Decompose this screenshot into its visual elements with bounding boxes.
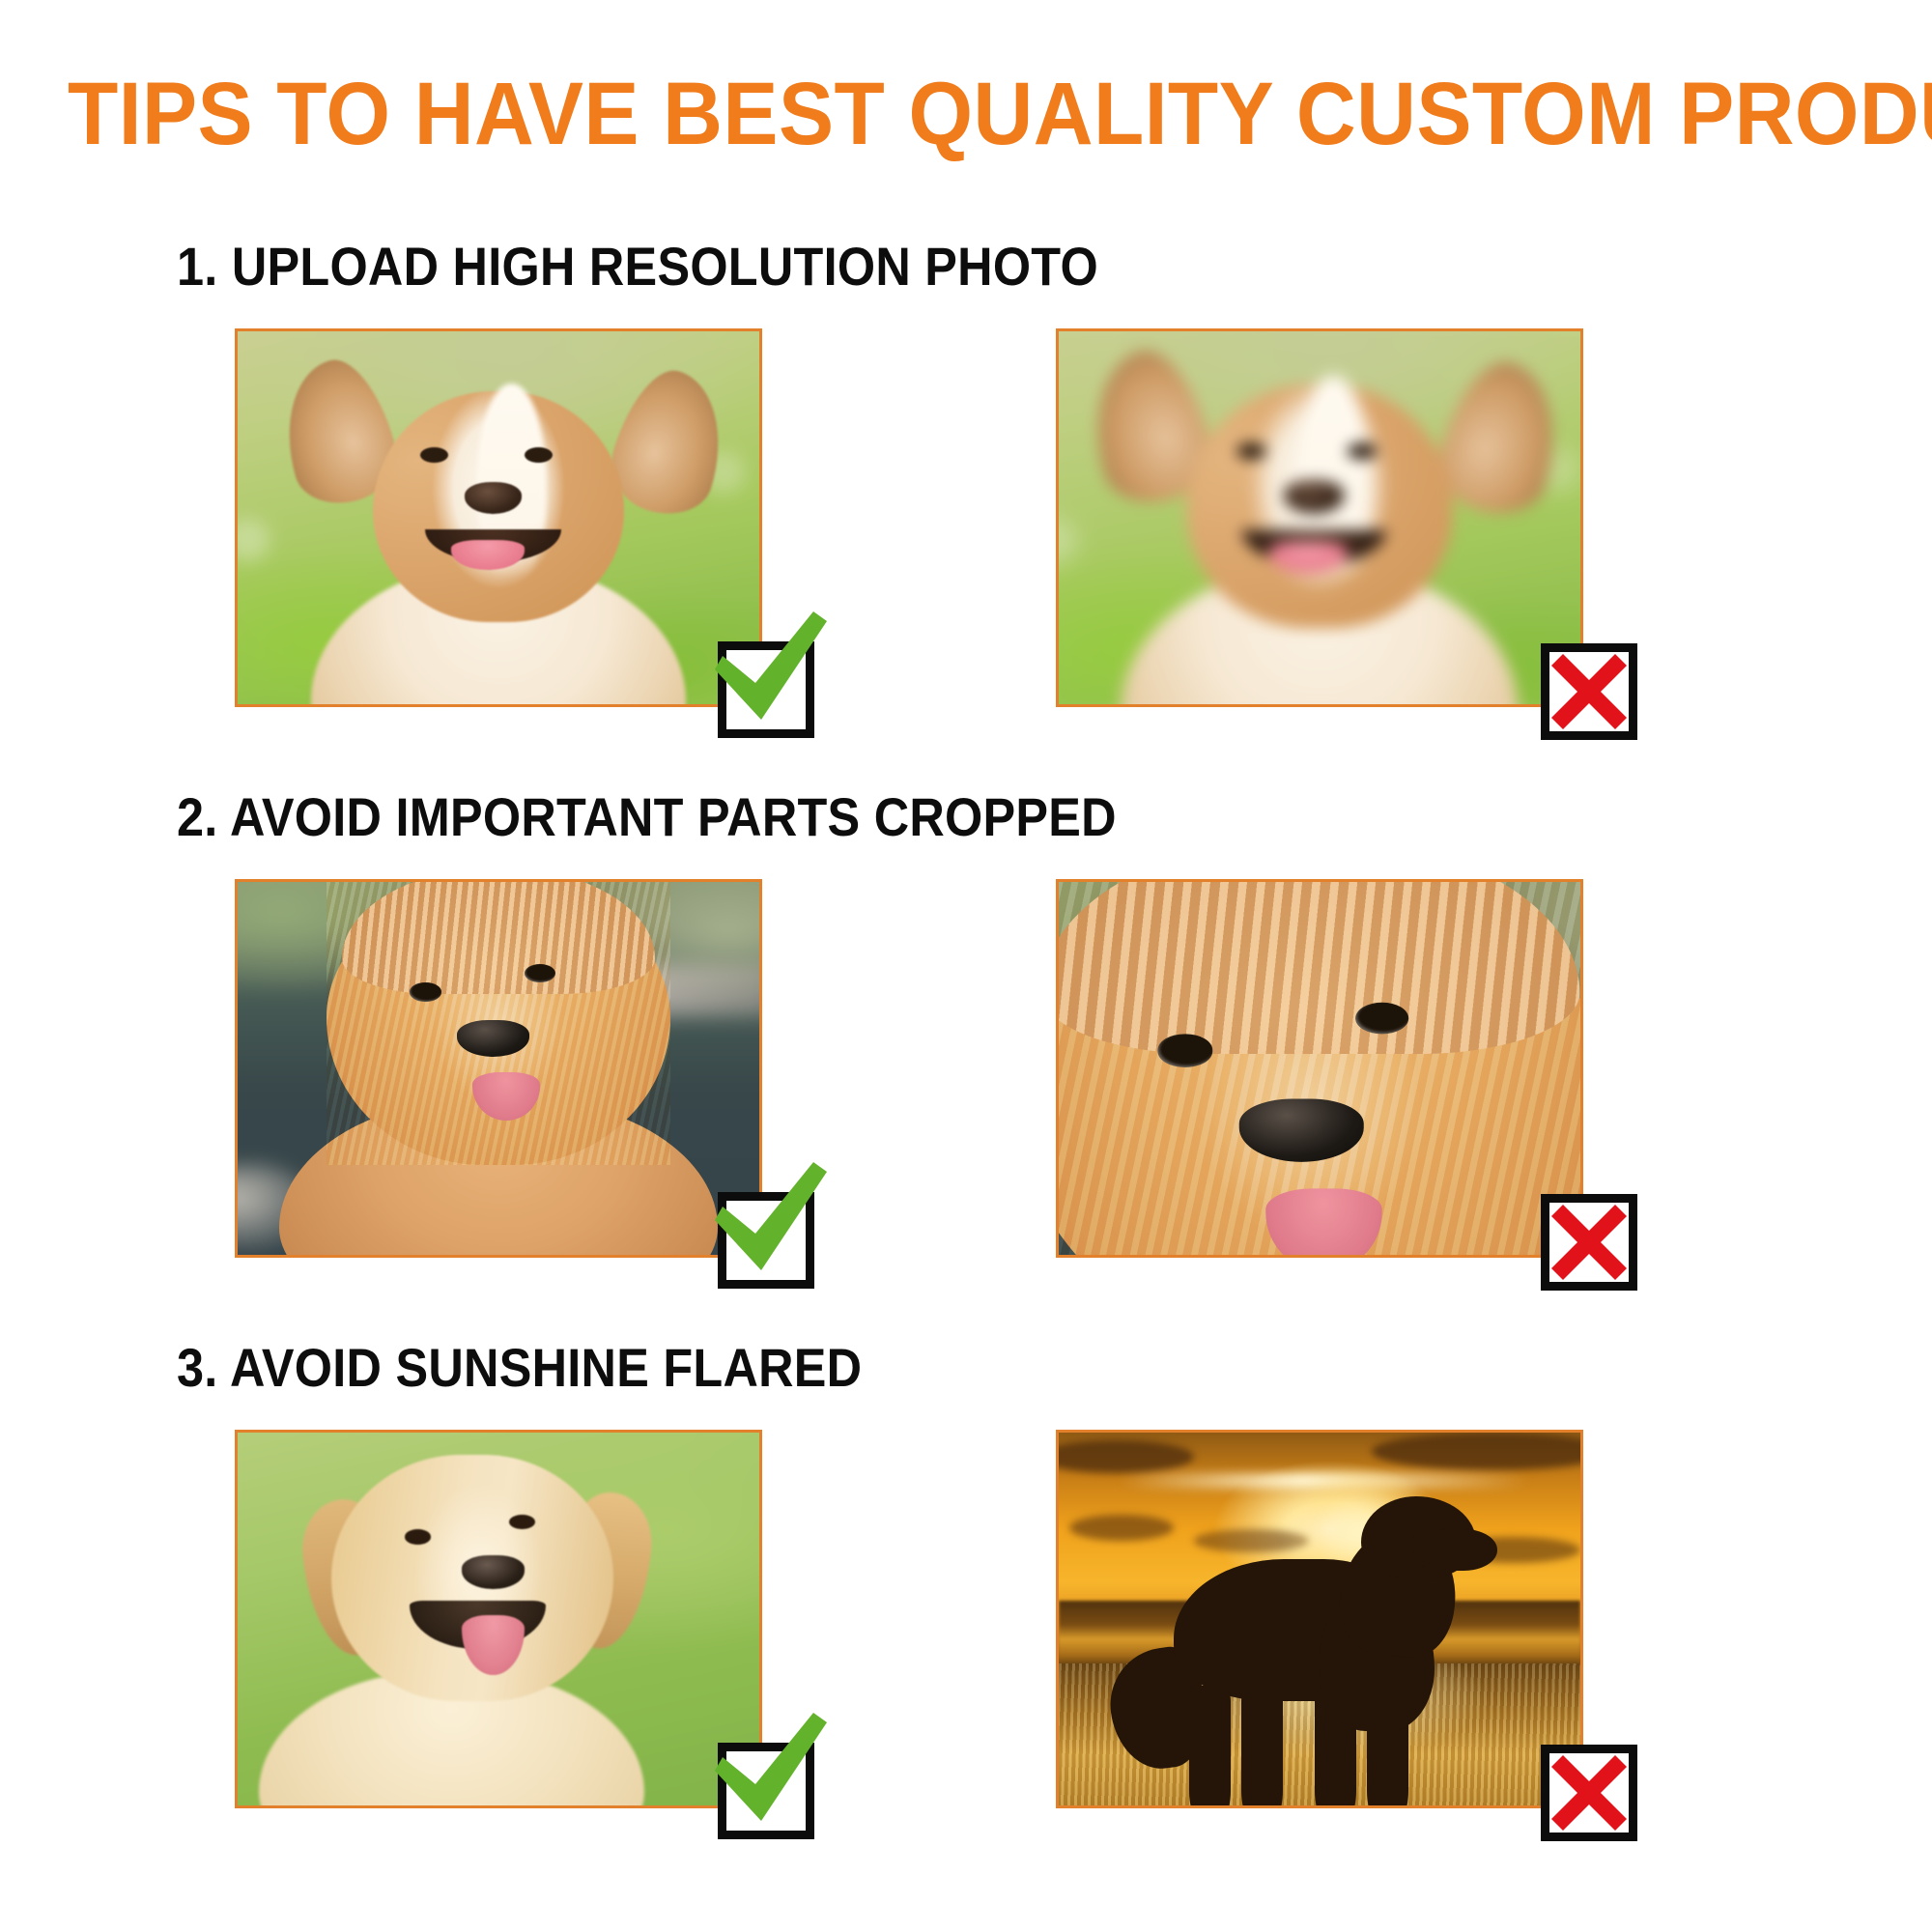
dog-eye-right	[525, 447, 553, 463]
photo-corgi-sharp	[238, 331, 759, 704]
section-heading: 2. AVOID IMPORTANT PARTS CROPPED	[177, 790, 1117, 844]
dog-leg	[1189, 1686, 1231, 1805]
status-badge-rejected	[1541, 1194, 1637, 1291]
page-title: TIPS TO HAVE BEST QUALITY CUSTOM PRODUCT…	[68, 70, 1864, 158]
section-heading: 1. UPLOAD HIGH RESOLUTION PHOTO	[177, 240, 1098, 294]
dog-eye-left	[405, 1529, 431, 1544]
photo-frame[interactable]	[1056, 328, 1583, 707]
example-bad	[1056, 1430, 1583, 1808]
cross-icon	[1551, 654, 1627, 729]
photo-cavapoo-full	[238, 882, 759, 1255]
photo-frame[interactable]	[1056, 1430, 1583, 1808]
photo-frame[interactable]	[235, 328, 762, 707]
photo-frame[interactable]	[235, 879, 762, 1258]
dog-eye-left	[410, 982, 440, 1001]
section-row	[0, 328, 1932, 734]
photo-sunset-silhouette	[1059, 1433, 1580, 1805]
dog-tongue	[1265, 1188, 1382, 1258]
check-icon	[705, 1156, 833, 1280]
status-badge-approved	[718, 1192, 814, 1289]
example-good	[235, 1430, 762, 1808]
dog-leg	[1241, 1686, 1283, 1805]
example-bad	[1056, 879, 1583, 1258]
status-badge-approved	[718, 641, 814, 738]
dog-eye-left	[1236, 442, 1266, 459]
example-good	[235, 879, 762, 1258]
cross-icon	[1551, 1205, 1627, 1280]
dog-fringe	[1056, 879, 1579, 1054]
dog-snout	[1424, 1529, 1497, 1570]
photo-corgi-blurred	[1056, 328, 1583, 707]
cloud	[1069, 1515, 1174, 1541]
example-bad	[1056, 328, 1583, 707]
example-good	[235, 328, 762, 707]
photo-frame[interactable]	[1056, 879, 1583, 1258]
section-heading: 3. AVOID SUNSHINE FLARED	[177, 1341, 862, 1395]
status-badge-approved	[718, 1743, 814, 1839]
dog-eye-left	[1158, 1035, 1212, 1066]
dog-fringe	[342, 882, 655, 994]
tips-poster: TIPS TO HAVE BEST QUALITY CUSTOM PRODUCT…	[0, 0, 1932, 1932]
check-icon	[705, 1707, 833, 1831]
photo-cavapoo-cropped	[1056, 879, 1583, 1258]
section-row	[0, 879, 1932, 1285]
dog-eye-left	[420, 447, 448, 463]
cloud	[1372, 1433, 1580, 1470]
status-badge-rejected	[1541, 643, 1637, 740]
dog-eye-right	[509, 1515, 535, 1529]
section-row	[0, 1430, 1932, 1835]
check-icon	[705, 606, 833, 729]
dog-eye-right	[1348, 442, 1378, 459]
cross-icon	[1551, 1755, 1627, 1831]
photo-golden-retriever	[238, 1433, 759, 1805]
photo-frame[interactable]	[235, 1430, 762, 1808]
status-badge-rejected	[1541, 1745, 1637, 1841]
